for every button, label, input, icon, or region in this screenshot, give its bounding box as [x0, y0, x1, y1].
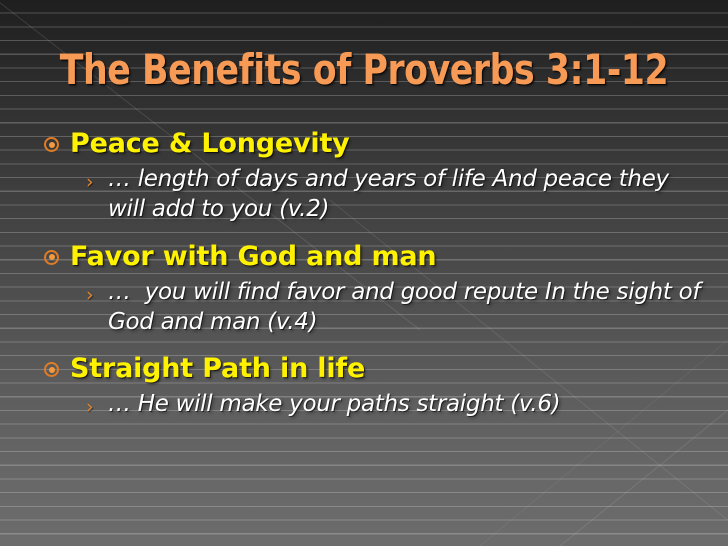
- chevron-right-icon: ›: [86, 165, 108, 192]
- presentation-slide: The Benefits of Proverbs 3:1-12 Peace & …: [0, 0, 728, 546]
- sub-bullet-text: … you will find favor and good repute In…: [108, 278, 706, 338]
- sub-bullet-item: › … length of days and years of life And…: [44, 165, 706, 225]
- chevron-right-icon: ›: [86, 390, 108, 417]
- sub-bullet-text: … He will make your paths straight (v.6): [108, 390, 560, 420]
- slide-content: The Benefits of Proverbs 3:1-12 Peace & …: [0, 0, 728, 546]
- bullet-heading: Straight Path in life: [70, 353, 365, 386]
- slide-body: Peace & Longevity › … length of days and…: [44, 128, 706, 430]
- ring-bullet-icon: [44, 353, 70, 377]
- bullet-item: Favor with God and man: [44, 241, 706, 274]
- slide-title: The Benefits of Proverbs 3:1-12: [29, 48, 699, 92]
- bullet-item: Peace & Longevity: [44, 128, 706, 161]
- sub-bullet-item: › … you will find favor and good repute …: [44, 278, 706, 338]
- bullet-heading: Peace & Longevity: [70, 128, 350, 161]
- bullet-heading: Favor with God and man: [70, 241, 436, 274]
- ring-bullet-icon: [44, 128, 70, 152]
- bullet-item: Straight Path in life: [44, 353, 706, 386]
- chevron-right-icon: ›: [86, 278, 108, 305]
- sub-bullet-text: … length of days and years of life And p…: [108, 165, 706, 225]
- ring-bullet-icon: [44, 241, 70, 265]
- sub-bullet-item: › … He will make your paths straight (v.…: [44, 390, 706, 420]
